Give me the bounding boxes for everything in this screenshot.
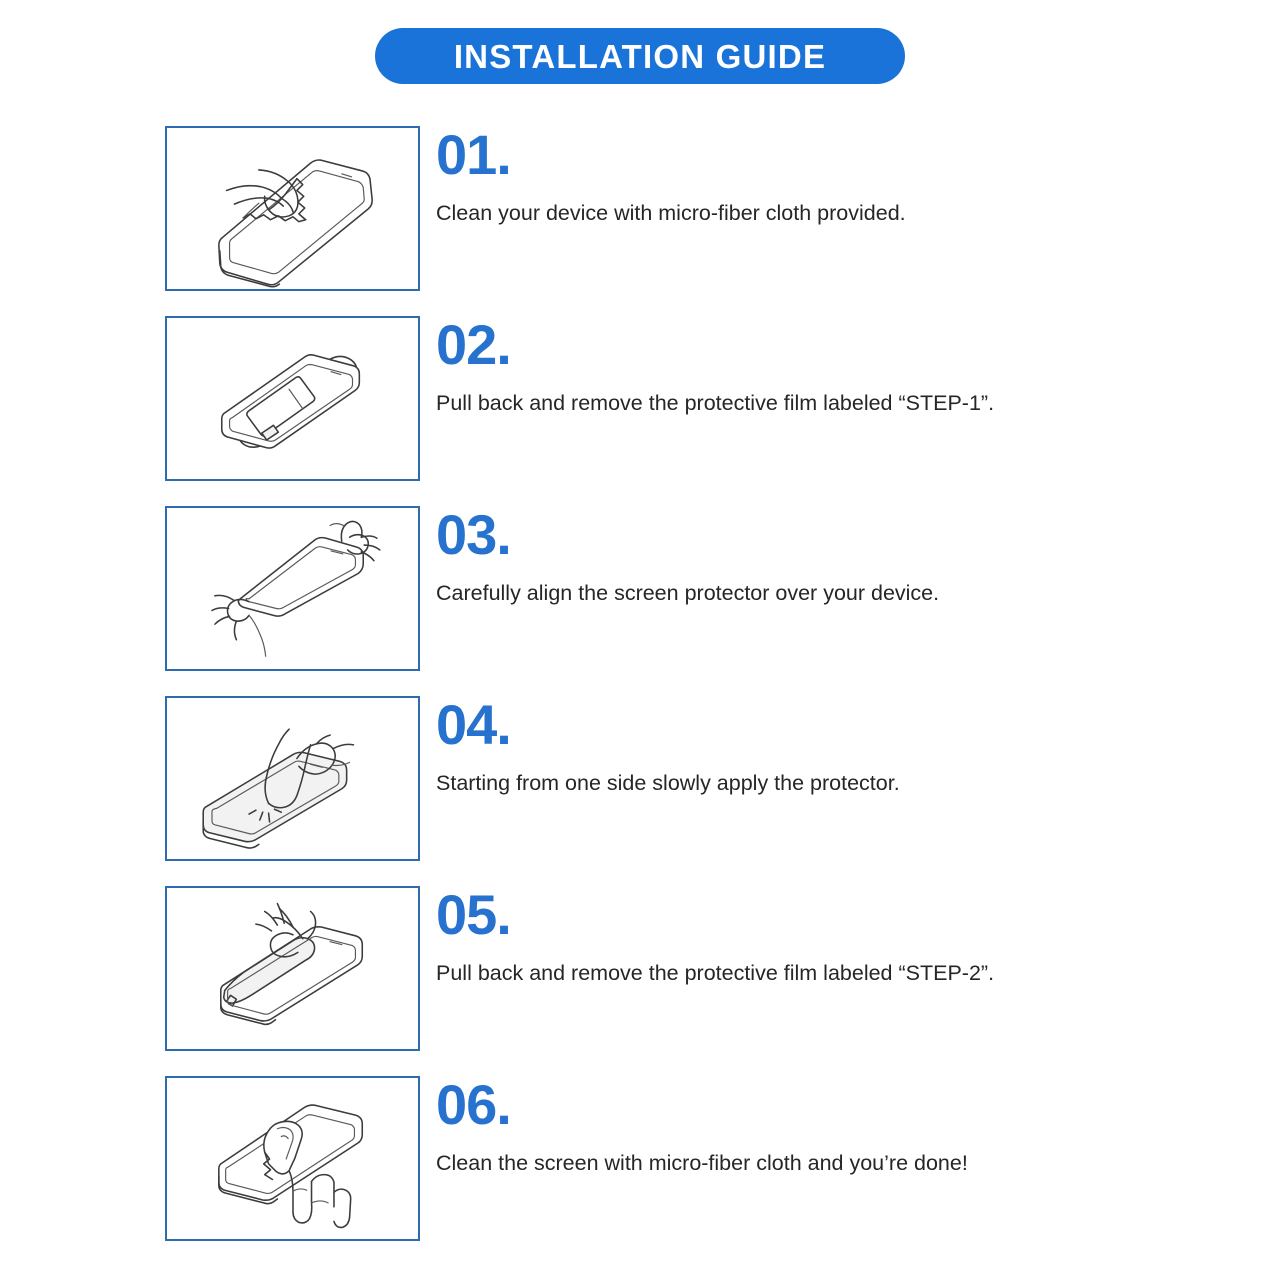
step-6-number: 06.	[436, 1078, 1165, 1131]
step-2-description: Pull back and remove the protective film…	[436, 390, 1165, 417]
step-2-illustration-box	[165, 316, 420, 481]
step-4-number: 04.	[436, 698, 1165, 751]
step-3-illustration-box	[165, 506, 420, 671]
step-1-illustration-box	[165, 126, 420, 291]
step-row: 05. Pull back and remove the protective …	[165, 886, 1165, 1051]
step-1-description: Clean your device with micro-fiber cloth…	[436, 200, 1165, 227]
step-6-description: Clean the screen with micro-fiber cloth …	[436, 1150, 1165, 1177]
step-3-text: 03. Carefully align the screen protector…	[436, 506, 1165, 607]
screen-protector-with-pull-tabs-icon	[167, 318, 418, 479]
step-row: 06. Clean the screen with micro-fiber cl…	[165, 1076, 1165, 1241]
step-row: 03. Carefully align the screen protector…	[165, 506, 1165, 671]
finger-pressing-protector-icon	[167, 698, 418, 859]
step-4-text: 04. Starting from one side slowly apply …	[436, 696, 1165, 797]
step-row: 04. Starting from one side slowly apply …	[165, 696, 1165, 861]
step-2-number: 02.	[436, 318, 1165, 371]
page-title: INSTALLATION GUIDE	[454, 40, 826, 73]
installation-guide-page: INSTALLATION GUIDE	[0, 0, 1280, 1280]
step-1-number: 01.	[436, 128, 1165, 181]
step-5-description: Pull back and remove the protective film…	[436, 960, 1165, 987]
step-row: 02. Pull back and remove the protective …	[165, 316, 1165, 481]
hand-peeling-film-icon	[167, 888, 418, 1049]
step-3-description: Carefully align the screen protector ove…	[436, 580, 1165, 607]
hand-wiping-finished-screen-icon	[167, 1078, 418, 1239]
hand-wiping-phone-with-cloth-icon	[167, 128, 418, 289]
step-4-illustration-box	[165, 696, 420, 861]
step-4-description: Starting from one side slowly apply the …	[436, 770, 1165, 797]
step-6-text: 06. Clean the screen with micro-fiber cl…	[436, 1076, 1165, 1177]
step-2-text: 02. Pull back and remove the protective …	[436, 316, 1165, 417]
step-5-text: 05. Pull back and remove the protective …	[436, 886, 1165, 987]
step-row: 01. Clean your device with micro-fiber c…	[165, 126, 1165, 291]
step-6-illustration-box	[165, 1076, 420, 1241]
step-3-number: 03.	[436, 508, 1165, 561]
step-5-number: 05.	[436, 888, 1165, 941]
two-hands-aligning-protector-icon	[167, 508, 418, 669]
step-5-illustration-box	[165, 886, 420, 1051]
steps-list: 01. Clean your device with micro-fiber c…	[165, 126, 1165, 1241]
header: INSTALLATION GUIDE	[0, 28, 1280, 84]
header-pill: INSTALLATION GUIDE	[375, 28, 905, 84]
step-1-text: 01. Clean your device with micro-fiber c…	[436, 126, 1165, 227]
